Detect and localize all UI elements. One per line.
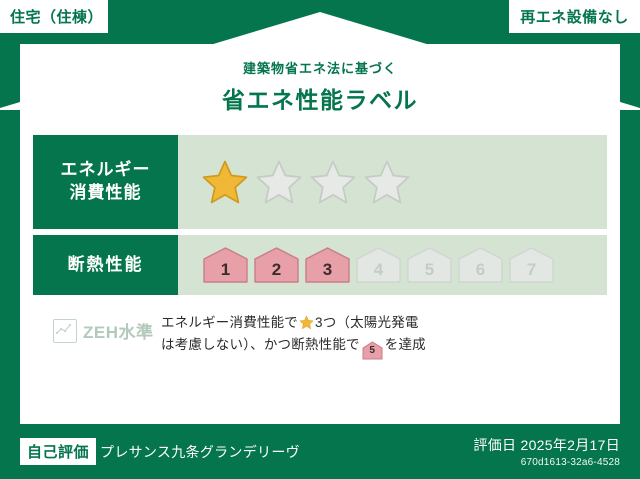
- zeh-label: ZEH水準: [83, 318, 154, 343]
- zeh-desc-text-4: を達成: [385, 337, 426, 352]
- insulation-level-scale: 1234567: [202, 246, 555, 284]
- row-label-energy-line1: エネルギー: [61, 159, 151, 182]
- energy-rating-body: [178, 135, 607, 229]
- insulation-level-inactive: 4: [355, 246, 402, 284]
- zeh-desc-text-2: 3つ（太陽光発電: [315, 315, 419, 330]
- zeh-standard-mark: ZEH水準: [33, 310, 161, 343]
- star-empty-icon: [310, 159, 356, 205]
- title-block: 建築物省エネ法に基づく 省エネ性能ラベル: [20, 58, 620, 115]
- insulation-level-value: 2: [272, 260, 281, 284]
- zeh-note: ZEH水準 エネルギー消費性能で3つ（太陽光発電 は考慮しない）、かつ断熱性能で…: [33, 310, 607, 358]
- insulation-level-active: 3: [304, 246, 351, 284]
- star-filled-icon: [202, 159, 248, 205]
- zeh-desc-text-3: は考慮しない）、かつ断熱性能で: [161, 337, 360, 352]
- insulation-level-value: 1: [221, 260, 230, 284]
- evaluation-date: 評価日 2025年2月17日: [473, 435, 620, 455]
- label-body: 建築物省エネ法に基づく 省エネ性能ラベル エネルギー 消費性能 断熱性能 123…: [20, 44, 620, 424]
- row-energy-performance: エネルギー 消費性能: [33, 135, 607, 229]
- inline-house-badge-value: 5: [362, 341, 383, 360]
- row-label-energy-line2: 消費性能: [70, 182, 142, 205]
- row-label-energy: エネルギー 消費性能: [33, 135, 178, 229]
- inline-star-icon: [299, 315, 314, 330]
- row-label-insulation: 断熱性能: [33, 235, 178, 295]
- label-footer: 自己評価 プレサンス九条グランデリーヴ 評価日 2025年2月17日 670d1…: [0, 424, 640, 479]
- zeh-description-line2: は考慮しない）、かつ断熱性能で5を達成: [161, 334, 607, 358]
- insulation-rating-body: 1234567: [178, 235, 607, 295]
- building-name: プレサンス九条グランデリーヴ: [100, 442, 300, 462]
- page-title: 省エネ性能ラベル: [20, 81, 620, 115]
- zeh-desc-text-1: エネルギー消費性能で: [161, 315, 298, 330]
- insulation-level-value: 3: [323, 260, 332, 284]
- row-insulation-performance: 断熱性能 1234567: [33, 235, 607, 295]
- insulation-level-inactive: 5: [406, 246, 453, 284]
- title-subtitle: 建築物省エネ法に基づく: [20, 58, 620, 77]
- energy-performance-label: 住宅（住棟） 再エネ設備なし 建築物省エネ法に基づく 省エネ性能ラベル エネルギ…: [0, 0, 640, 479]
- star-empty-icon: [256, 159, 302, 205]
- inline-house-badge-icon: 5: [362, 341, 383, 358]
- zeh-description-line1: エネルギー消費性能で3つ（太陽光発電: [161, 312, 607, 334]
- tag-building-type: 住宅（住棟）: [0, 0, 108, 33]
- insulation-level-value: 6: [476, 260, 485, 284]
- insulation-level-active: 2: [253, 246, 300, 284]
- star-empty-icon: [364, 159, 410, 205]
- zeh-chart-icon: [53, 319, 77, 343]
- insulation-level-inactive: 7: [508, 246, 555, 284]
- insulation-level-value: 5: [425, 260, 434, 284]
- evaluation-type-badge: 自己評価: [20, 438, 96, 465]
- insulation-level-inactive: 6: [457, 246, 504, 284]
- insulation-level-active: 1: [202, 246, 249, 284]
- star-rating: [202, 159, 410, 205]
- footer-meta: 評価日 2025年2月17日 670d1613-32a6-4528: [473, 435, 620, 468]
- insulation-level-value: 7: [527, 260, 536, 284]
- insulation-level-value: 4: [374, 260, 383, 284]
- tag-renewable-equipment: 再エネ設備なし: [509, 0, 640, 33]
- evaluation-id: 670d1613-32a6-4528: [473, 457, 620, 468]
- zeh-description: エネルギー消費性能で3つ（太陽光発電 は考慮しない）、かつ断熱性能で5を達成: [161, 310, 607, 358]
